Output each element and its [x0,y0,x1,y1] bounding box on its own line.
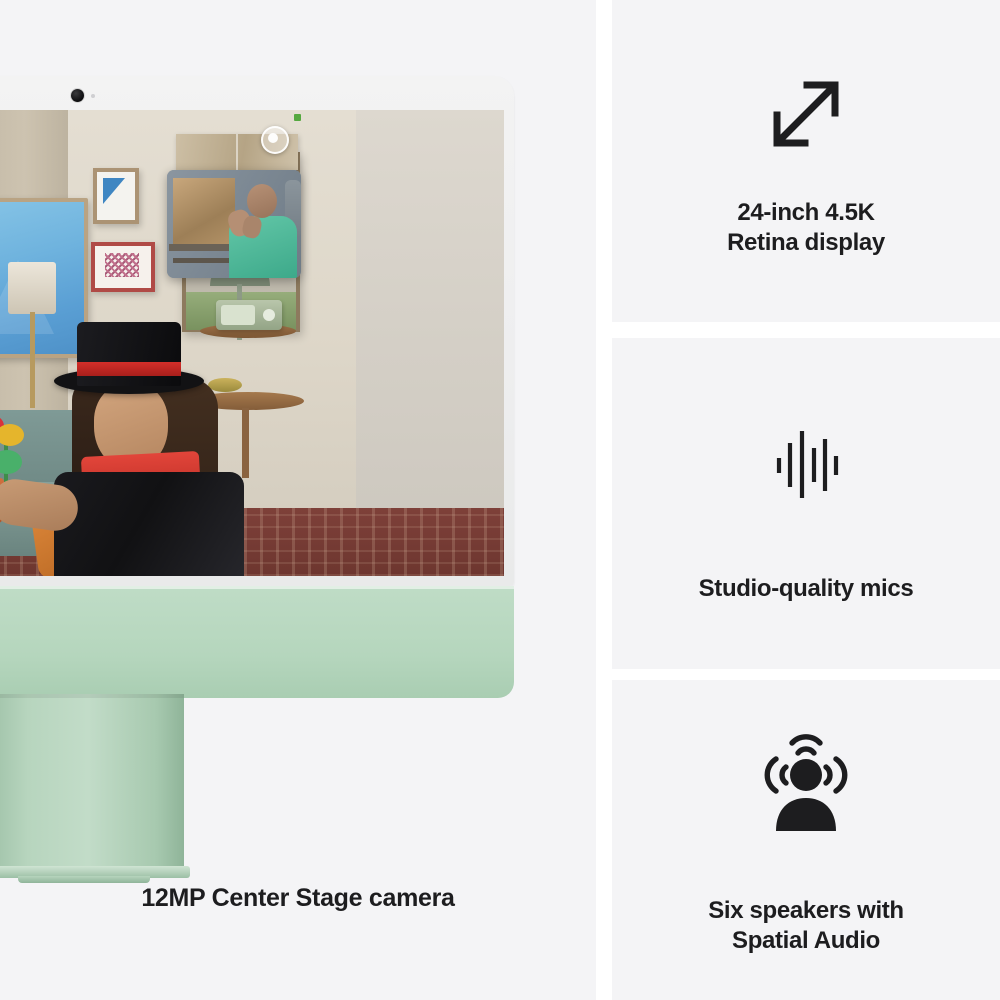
feature-speakers-line1: Six speakers with [708,897,903,924]
spatial-audio-person-icon [612,728,1000,838]
pip-shelf-lower [173,258,233,263]
feature-display-line2: Retina display [727,229,885,256]
imac-chin [0,586,514,698]
scene-girl-hat-band [77,362,181,376]
imac-device [0,76,514,816]
scene-frame-blue-art [93,168,139,224]
product-feature-grid: 12MP Center Stage camera 24-inch 4.5K Re… [0,0,1000,1000]
audio-waveform-icon [612,416,1000,512]
feature-speakers-line2: Spatial Audio [732,927,880,954]
imac-stand-neck [0,694,184,870]
feature-speakers: Six speakers with Spatial Audio [612,728,1000,956]
scene-girl-top-hat [77,322,181,386]
scene-frame-red-art [91,242,155,292]
feature-speakers-label: Six speakers with Spatial Audio [612,896,1000,956]
scene-girl-black-cape [54,472,244,576]
green-record-dot [294,114,301,121]
scene-radio [216,300,282,330]
facetime-pip-tile[interactable] [167,170,301,278]
panel-studio-mics: Studio-quality mics [612,338,1000,669]
diagonal-resize-arrow-icon [612,66,1000,162]
feature-display: 24-inch 4.5K Retina display [612,66,1000,258]
circle-control-icon[interactable] [261,126,289,154]
scene-floor-lamp-pole [30,312,35,408]
scene-floor-lamp-shade [8,262,56,314]
imac-stand-foot-edge [18,876,150,883]
feature-display-label: 24-inch 4.5K Retina display [612,198,1000,258]
camera-dot-icon [71,89,84,102]
scene-wall-right [356,110,504,530]
pip-person-head [247,184,277,218]
scene-fruit-bowl [208,378,242,392]
feature-display-line1: 24-inch 4.5K [737,199,874,226]
panel-center-stage-camera: 12MP Center Stage camera [0,0,596,1000]
pip-wall-art [173,178,235,248]
imac-screen [0,110,504,576]
panel-retina-display: 24-inch 4.5K Retina display [612,0,1000,322]
panel-spatial-audio: Six speakers with Spatial Audio [612,680,1000,1000]
camera-caption: 12MP Center Stage camera [0,884,596,913]
feature-mics-label: Studio-quality mics [612,574,1000,604]
imac-bezel [0,76,514,586]
scene-side-table-leg [242,408,249,478]
feature-mics: Studio-quality mics [612,416,1000,604]
camera-led-icon [91,94,95,98]
